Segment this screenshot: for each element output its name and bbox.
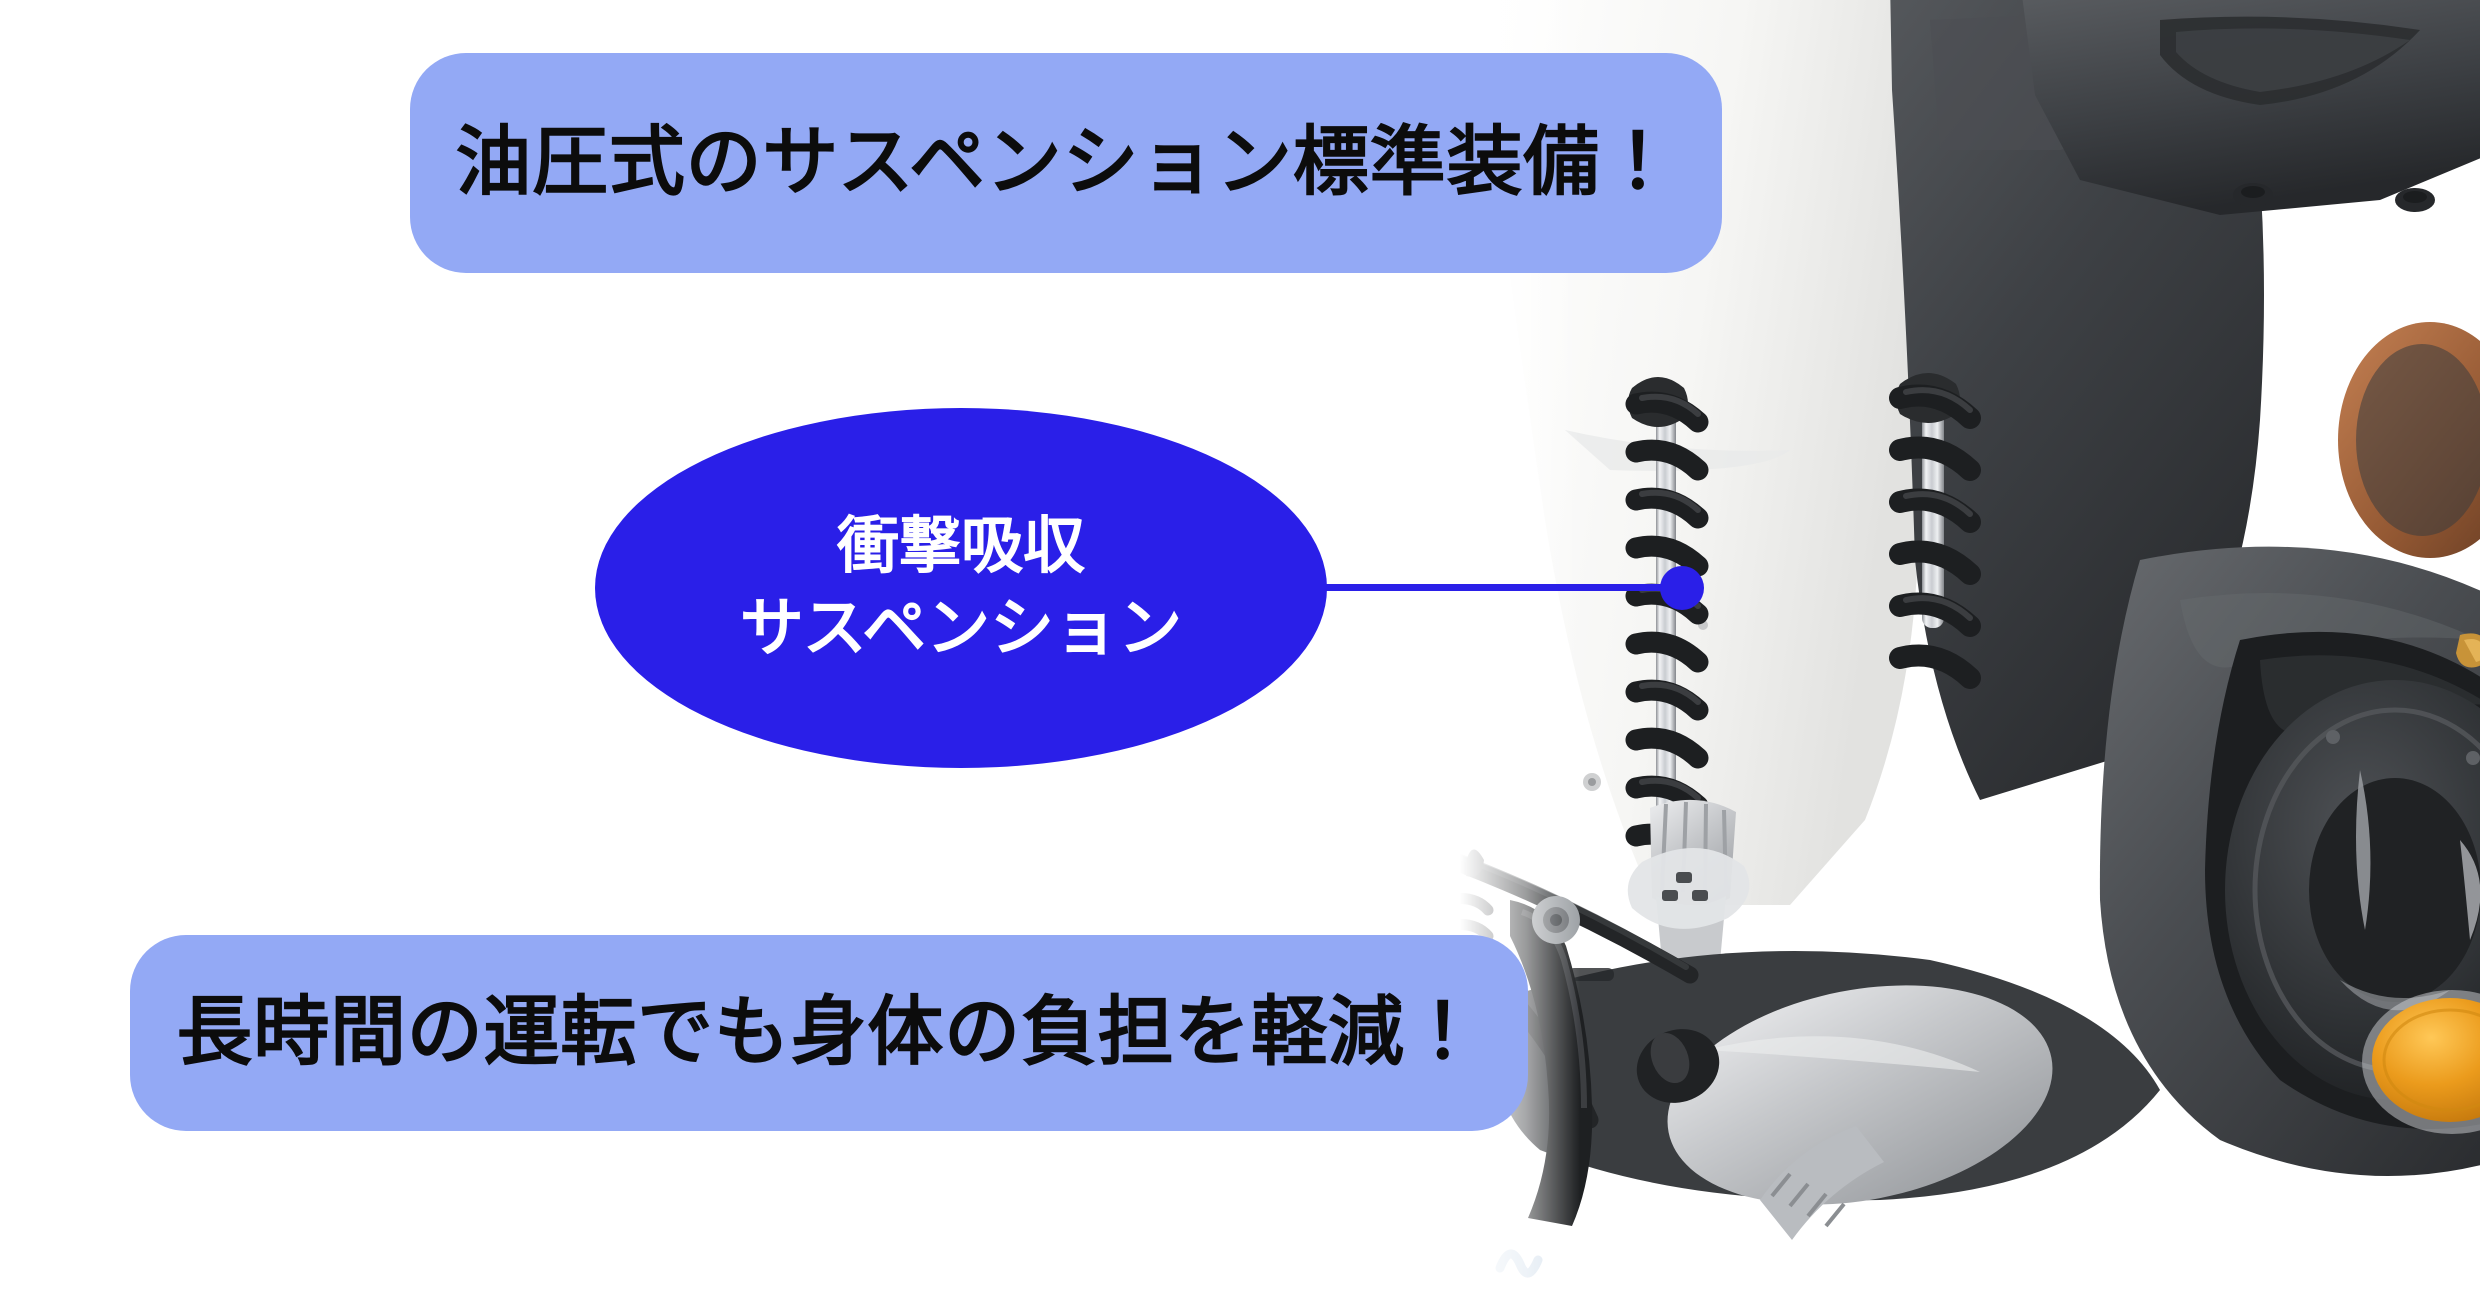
callout-line-2: サスペンション (740, 595, 1182, 662)
callout-line-1: 衝撃吸収 (837, 514, 1085, 579)
banner-bottom: 長時間の運転でも身体の負担を軽減！ (130, 935, 1528, 1131)
poster-canvas: 油圧式のサスペンション標準装備！ 衝撃吸収 サスペンション 長時間の運転でも身体… (0, 0, 2480, 1300)
banner-bottom-text: 長時間の運転でも身体の負担を軽減！ (177, 995, 1482, 1071)
callout-target-dot (1660, 566, 1704, 610)
banner-top-text: 油圧式のサスペンション標準装備！ (455, 125, 1676, 201)
callout-ellipse: 衝撃吸収 サスペンション (595, 408, 1327, 768)
banner-top: 油圧式のサスペンション標準装備！ (410, 53, 1722, 273)
callout-connector-line (1290, 584, 1682, 591)
